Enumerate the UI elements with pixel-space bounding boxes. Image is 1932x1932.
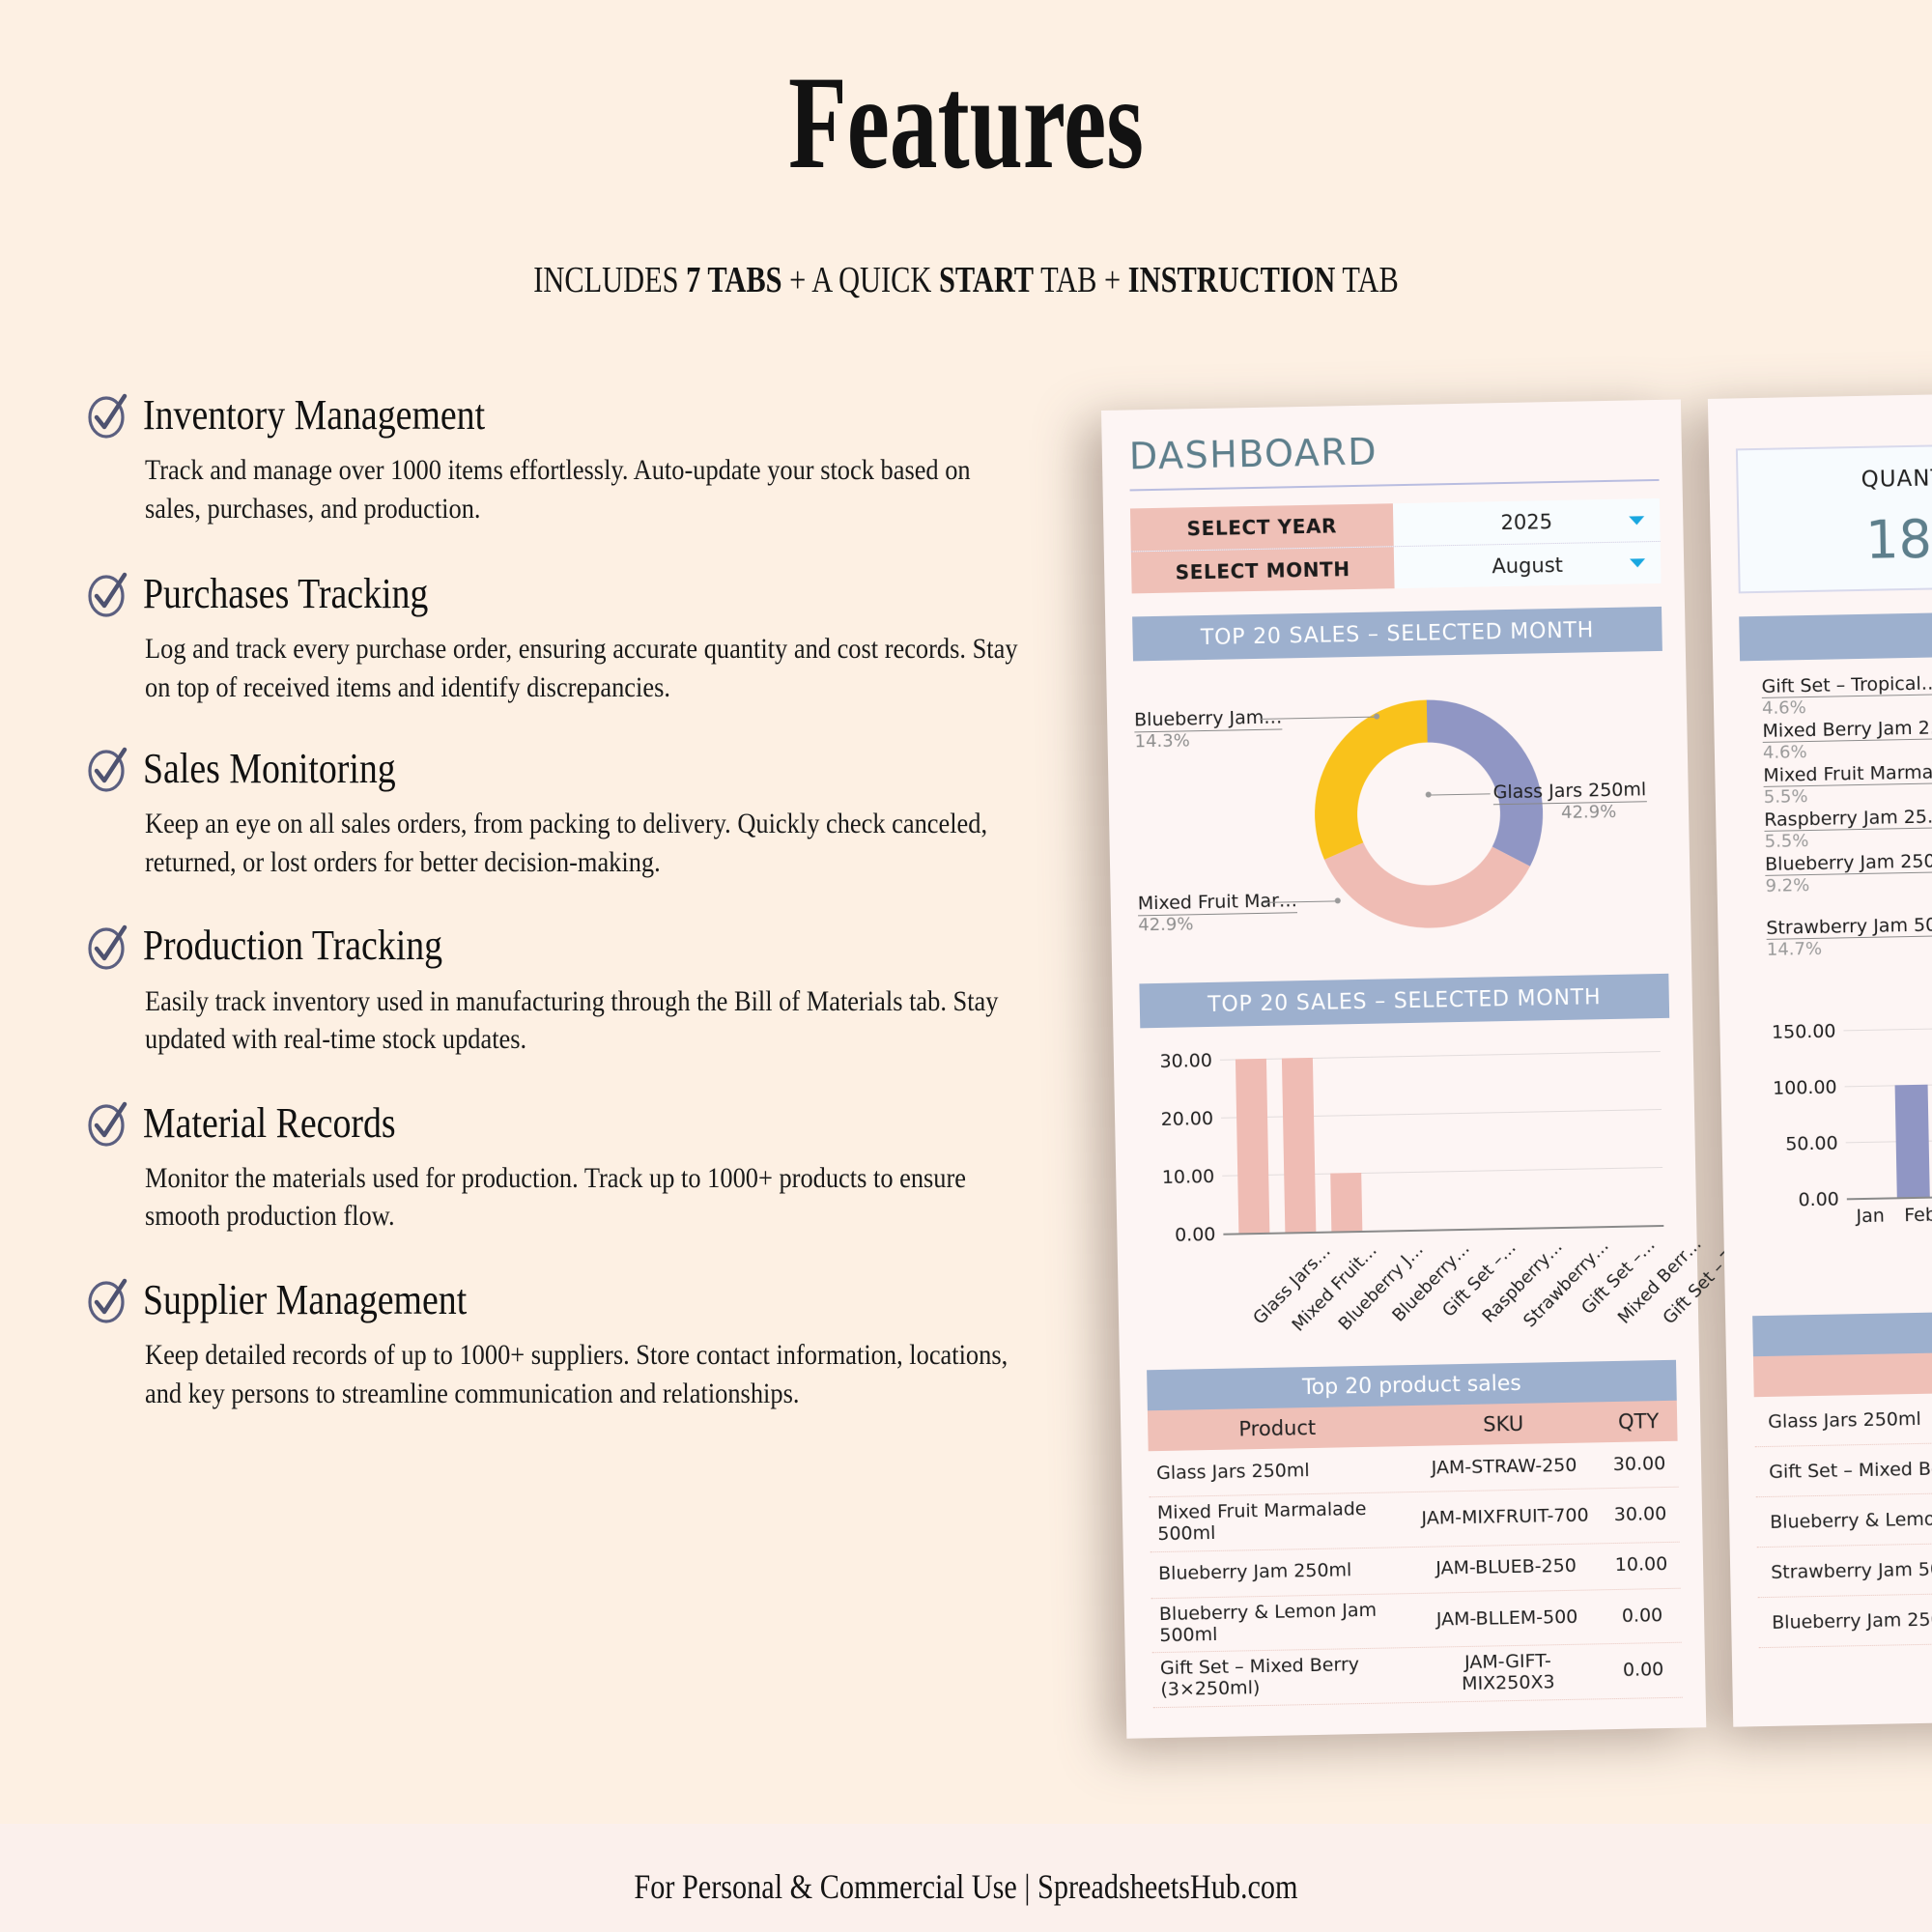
subtitle-part-bold: 7 TABS bbox=[686, 260, 781, 300]
select-month-value: August bbox=[1492, 553, 1563, 577]
feature-title: Material Records bbox=[143, 1101, 396, 1146]
donut-label-glass-jars-name: Glass Jars 250ml bbox=[1492, 779, 1646, 803]
cell-product: Blueberry & Lemon Jam 500ml bbox=[1151, 1594, 1411, 1653]
feature-title: Supplier Management bbox=[143, 1278, 467, 1322]
leader-dot bbox=[1426, 792, 1432, 798]
cell-sku: JAM-GIFT-MIX250X3 bbox=[1411, 1645, 1605, 1703]
bar-mixed-fruit bbox=[1282, 1058, 1316, 1233]
monthly-plot-area bbox=[1843, 1024, 1932, 1198]
y-tick-label: 0.00 bbox=[1750, 1188, 1839, 1211]
legend-name: Strawberry Jam 50… bbox=[1766, 914, 1932, 940]
feature-item: Production Tracking Easily track invento… bbox=[85, 923, 1061, 1059]
feature-item: Sales Monitoring Keep an eye on all sale… bbox=[85, 745, 1061, 881]
monthly-bar-chart: 150.00 100.00 50.00 0.00 Jan Feb Mar bbox=[1747, 1004, 1932, 1300]
select-month-label: SELECT MONTH bbox=[1131, 547, 1395, 593]
legend-name: Raspberry Jam 25… bbox=[1764, 806, 1932, 832]
donut-label-blueberry: Blueberry Jam… bbox=[1134, 706, 1283, 732]
feature-header: Material Records bbox=[85, 1099, 1061, 1148]
feature-description: Track and manage over 1000 items effortl… bbox=[145, 451, 1020, 527]
column-header-qty: QTY bbox=[1600, 1401, 1678, 1443]
subtitle-part: + A QUICK bbox=[782, 260, 939, 300]
table-row: Glass Jars 250ml bbox=[1754, 1390, 1932, 1447]
cell-sku: JAM-MIXFRUIT-700 bbox=[1408, 1489, 1603, 1547]
column-header-product: Product bbox=[1753, 1350, 1932, 1397]
donut-chart: Blueberry Jam… 14.3% Glass Jars 250ml 42… bbox=[1133, 661, 1668, 960]
select-year-value: 2025 bbox=[1500, 510, 1552, 534]
feature-header: Inventory Management bbox=[85, 391, 1061, 440]
page-title: Features bbox=[270, 56, 1662, 189]
feature-description: Easily track inventory used in manufactu… bbox=[145, 982, 1020, 1059]
leader-dot bbox=[1374, 714, 1379, 720]
table2-title bbox=[1752, 1309, 1932, 1356]
check-circle-icon bbox=[85, 923, 129, 971]
cell-product: Glass Jars 250ml bbox=[1149, 1446, 1408, 1496]
table-row: Blueberry Jam 250ml bbox=[1758, 1591, 1932, 1648]
table-row: Strawberry Jam 500ml bbox=[1757, 1541, 1932, 1598]
top-products-table: Top 20 product sales Product SKU QTY Gla… bbox=[1147, 1360, 1683, 1709]
feature-description: Keep an eye on all sales orders, from pa… bbox=[145, 805, 1020, 881]
feature-title: Sales Monitoring bbox=[143, 747, 396, 791]
legend-name: Mixed Berry Jam 2… bbox=[1762, 717, 1932, 743]
y-tick-label: 20.00 bbox=[1146, 1108, 1213, 1130]
right-band-title: TO bbox=[1739, 610, 1932, 661]
table-row: Blueberry & Lemon Jam 500ml JAM-BLLEM-50… bbox=[1151, 1588, 1682, 1653]
legend-item: Raspberry Jam 25… 5.5% bbox=[1764, 803, 1932, 852]
feature-title: Production Tracking bbox=[143, 923, 442, 968]
legend-item: Blueberry Jam 250ml 9.2% bbox=[1765, 847, 1932, 896]
page-subtitle: INCLUDES 7 TABS + A QUICK START TAB + IN… bbox=[193, 259, 1739, 301]
legend-item: Mixed Fruit Marma… 5.5% bbox=[1763, 758, 1932, 808]
table-row: Mixed Fruit Marmalade 500ml JAM-MIXFRUIT… bbox=[1150, 1488, 1680, 1552]
secondary-products-table: Product Glass Jars 250ml Gift Set – Mixe… bbox=[1752, 1309, 1932, 1648]
y-tick-label: 10.00 bbox=[1147, 1166, 1214, 1188]
cell-sku: JAM-BLUEB-250 bbox=[1409, 1544, 1604, 1593]
y-tick-label: 30.00 bbox=[1145, 1050, 1212, 1072]
subtitle-part: INCLUDES bbox=[533, 260, 686, 300]
feature-description: Monitor the materials used for productio… bbox=[145, 1159, 1020, 1236]
donut-pct-glass-jars-value: 42.9% bbox=[1561, 802, 1617, 823]
footer-text: For Personal & Commercial Use | Spreadsh… bbox=[155, 1866, 1777, 1907]
table-row: Gift Set – Mixed Berry (3×250ml) JAM-GIF… bbox=[1152, 1643, 1683, 1708]
title-divider bbox=[1130, 479, 1660, 492]
feature-header: Sales Monitoring bbox=[85, 745, 1061, 793]
cell-product: Gift Set – Mixed Berry (3×250ml) bbox=[1152, 1648, 1412, 1707]
cell-product: Blueberry Jam 250ml bbox=[1758, 1608, 1932, 1634]
donut-label-mixed-fruit: Mixed Fruit Mar… bbox=[1138, 890, 1298, 916]
bar-plot-area bbox=[1220, 1051, 1675, 1234]
features-list: Inventory Management Track and manage ov… bbox=[85, 391, 1061, 1439]
check-circle-icon bbox=[85, 745, 129, 793]
cell-qty: 0.00 bbox=[1605, 1643, 1683, 1698]
legend-name: Mixed Fruit Marma… bbox=[1763, 761, 1932, 787]
y-tick-label: 100.00 bbox=[1747, 1077, 1836, 1100]
bar-blueberry-jam bbox=[1330, 1173, 1362, 1232]
cell-sku: JAM-BLLEM-500 bbox=[1410, 1590, 1605, 1648]
cell-qty: 10.00 bbox=[1603, 1542, 1681, 1589]
donut-slice-blueberry bbox=[1313, 700, 1430, 860]
subtitle-part-bold: START bbox=[939, 260, 1034, 300]
dashboard-screenshot-mockup: DASHBOARD SELECT YEAR 2025 SELECT MONTH … bbox=[1101, 393, 1932, 1739]
table-row: Gift Set – Mixed Berry (3× bbox=[1755, 1440, 1932, 1497]
y-tick-label: 0.00 bbox=[1148, 1224, 1215, 1246]
legend-name: Blueberry Jam 250ml bbox=[1765, 850, 1932, 876]
donut-pct-mixed-fruit: 42.9% bbox=[1138, 914, 1194, 935]
bar-glass-jars bbox=[1236, 1059, 1269, 1234]
table-row: Blueberry & Lemon Jam bbox=[1756, 1491, 1932, 1548]
table2-header-row: Product bbox=[1753, 1350, 1932, 1397]
dashboard-card-secondary: QUANTIT 189 TO Gift Set – Tropical… 4.6%… bbox=[1708, 391, 1932, 1727]
donut-pct-mixed-fruit-value: 42.9% bbox=[1138, 914, 1194, 935]
feature-title: Purchases Tracking bbox=[143, 572, 428, 616]
check-circle-icon bbox=[85, 570, 129, 618]
bar-feb bbox=[1895, 1085, 1930, 1198]
cell-product: Mixed Fruit Marmalade 500ml bbox=[1150, 1492, 1409, 1551]
legend-list: Gift Set – Tropical… 4.6% Mixed Berry Ja… bbox=[1740, 654, 1932, 960]
leader-dot bbox=[1335, 897, 1341, 903]
legend-item: Mixed Berry Jam 2… 4.6% bbox=[1762, 714, 1932, 763]
cell-product: Gift Set – Mixed Berry (3× bbox=[1755, 1457, 1932, 1483]
dashboard-card-primary: DASHBOARD SELECT YEAR 2025 SELECT MONTH … bbox=[1101, 399, 1706, 1738]
legend-item: Gift Set – Tropical… 4.6% bbox=[1761, 669, 1932, 719]
select-month-dropdown[interactable]: August bbox=[1394, 542, 1662, 588]
donut-label-glass-jars: Glass Jars 250ml bbox=[1492, 779, 1646, 805]
cell-product: Glass Jars 250ml bbox=[1754, 1407, 1921, 1432]
check-circle-icon bbox=[85, 1276, 129, 1324]
cell-product: Strawberry Jam 500ml bbox=[1757, 1557, 1932, 1582]
bar-chart: 30.00 20.00 10.00 0.00 Glass Jars… Mixed… bbox=[1140, 1024, 1675, 1362]
y-tick-label: 150.00 bbox=[1747, 1021, 1835, 1044]
donut-chart-band-title: TOP 20 SALES – SELECTED MONTH bbox=[1132, 607, 1662, 662]
donut-slice-mixed-fruit bbox=[1324, 839, 1531, 930]
cell-qty: 0.00 bbox=[1604, 1588, 1682, 1643]
donut-pct-blueberry: 14.3% bbox=[1134, 730, 1190, 752]
check-circle-icon bbox=[85, 1099, 129, 1148]
chevron-down-icon[interactable] bbox=[1629, 516, 1644, 525]
subtitle-part-bold: INSTRUCTION bbox=[1128, 260, 1336, 300]
legend-name: Gift Set – Tropical… bbox=[1761, 672, 1932, 698]
cell-qty: 30.00 bbox=[1602, 1488, 1680, 1543]
subtitle-part: TAB bbox=[1335, 260, 1398, 300]
donut-pct-blueberry-value: 14.3% bbox=[1134, 730, 1190, 752]
feature-title: Inventory Management bbox=[143, 393, 485, 438]
cell-product: Blueberry & Lemon Jam bbox=[1756, 1507, 1932, 1533]
legend-item: Strawberry Jam 50… 14.7% bbox=[1766, 911, 1932, 960]
feature-description: Log and track every purchase order, ensu… bbox=[145, 630, 1020, 706]
cell-sku: JAM-STRAW-250 bbox=[1407, 1442, 1602, 1492]
subtitle-part: TAB + bbox=[1034, 260, 1128, 300]
feature-header: Production Tracking bbox=[85, 923, 1061, 971]
donut-pct-glass-jars: 42.9% bbox=[1561, 802, 1617, 823]
quantity-kpi-card: QUANTIT 189 bbox=[1736, 441, 1932, 593]
feature-item: Material Records Monitor the materials u… bbox=[85, 1099, 1061, 1236]
column-header-product: Product bbox=[1148, 1406, 1407, 1451]
y-tick-label: 50.00 bbox=[1749, 1132, 1838, 1155]
x-tick-label: Jan bbox=[1847, 1205, 1893, 1227]
feature-header: Purchases Tracking bbox=[85, 570, 1061, 618]
feature-item: Purchases Tracking Log and track every p… bbox=[85, 570, 1061, 706]
chevron-down-icon[interactable] bbox=[1630, 558, 1645, 567]
kpi-value: 189 bbox=[1865, 507, 1932, 570]
feature-item: Inventory Management Track and manage ov… bbox=[85, 391, 1061, 527]
feature-header: Supplier Management bbox=[85, 1276, 1061, 1324]
column-header-sku: SKU bbox=[1406, 1402, 1601, 1446]
dashboard-title: DASHBOARD bbox=[1128, 425, 1659, 478]
cell-product: Blueberry Jam 250ml bbox=[1151, 1548, 1410, 1598]
select-year-label: SELECT YEAR bbox=[1130, 503, 1394, 551]
feature-item: Supplier Management Keep detailed record… bbox=[85, 1276, 1061, 1412]
check-circle-icon bbox=[85, 391, 129, 440]
kpi-label: QUANTIT bbox=[1861, 465, 1932, 492]
select-year-dropdown[interactable]: 2025 bbox=[1393, 498, 1661, 546]
feature-description: Keep detailed records of up to 1000+ sup… bbox=[145, 1336, 1020, 1412]
x-tick-label: Feb bbox=[1897, 1204, 1932, 1226]
cell-qty: 30.00 bbox=[1601, 1441, 1679, 1489]
bar-chart-band-title: TOP 20 SALES – SELECTED MONTH bbox=[1139, 974, 1669, 1029]
